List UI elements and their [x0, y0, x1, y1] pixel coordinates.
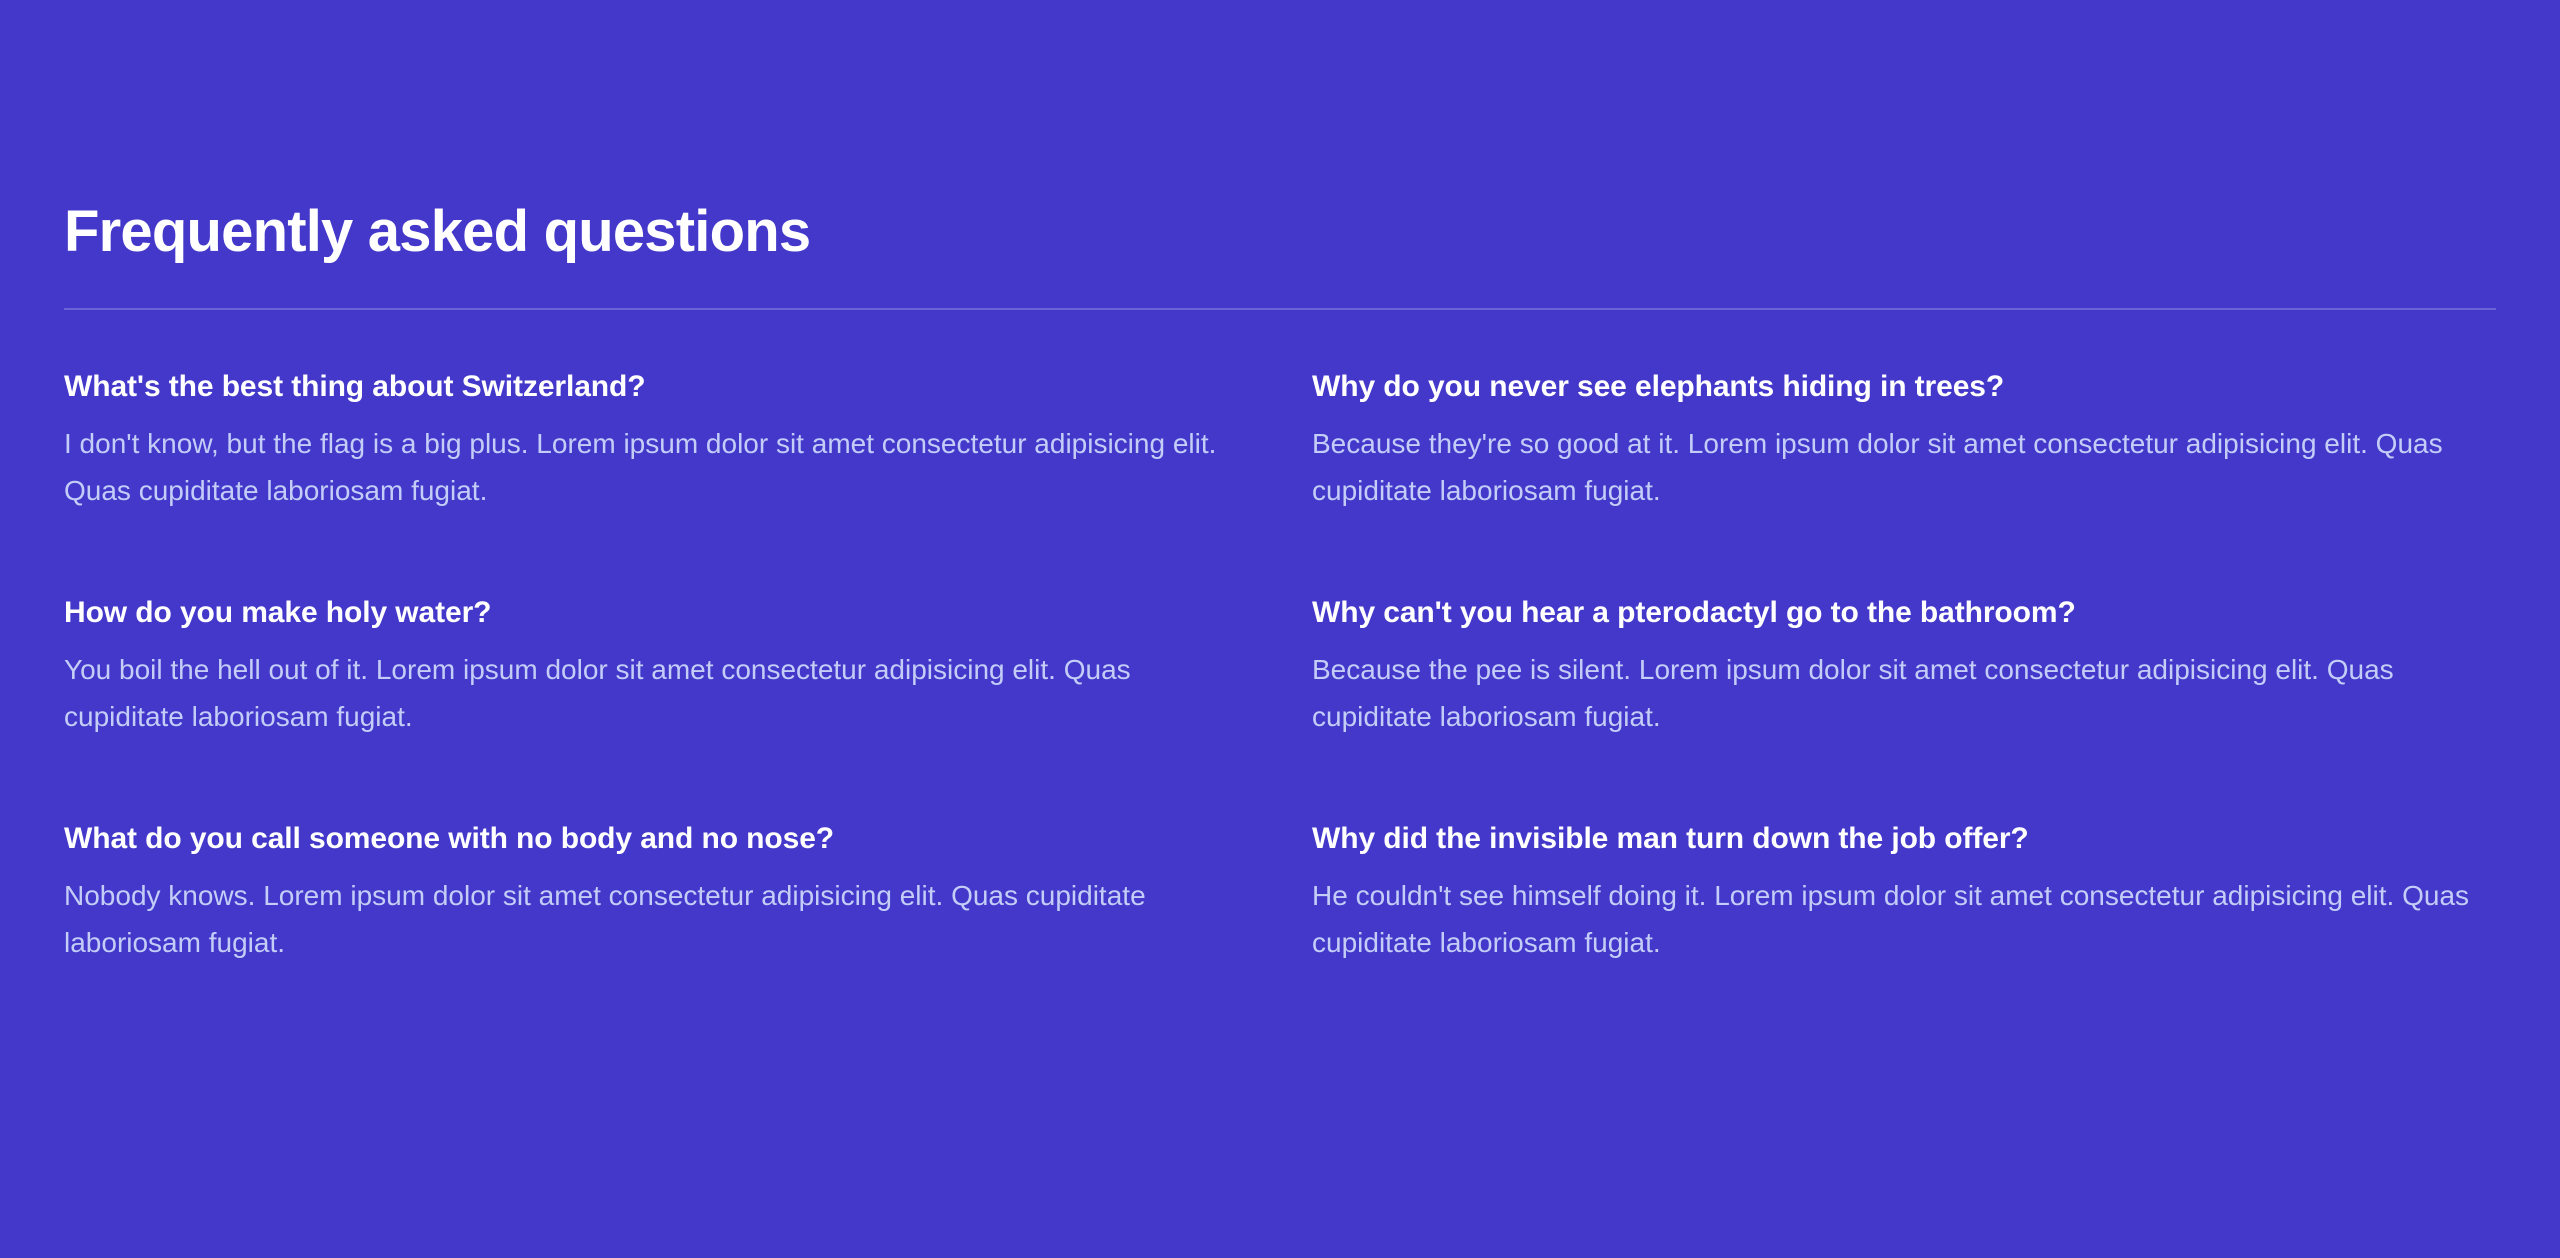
faq-question: What's the best thing about Switzerland?	[64, 368, 1248, 406]
faq-section: Frequently asked questions What's the be…	[0, 0, 2560, 1258]
faq-item: Why can't you hear a pterodactyl go to t…	[1312, 594, 2496, 740]
faq-question: Why did the invisible man turn down the …	[1312, 820, 2496, 858]
faq-grid: What's the best thing about Switzerland?…	[64, 368, 2496, 966]
faq-question: How do you make holy water?	[64, 594, 1248, 632]
faq-item: How do you make holy water? You boil the…	[64, 594, 1248, 740]
faq-item: Why do you never see elephants hiding in…	[1312, 368, 2496, 514]
faq-answer: You boil the hell out of it. Lorem ipsum…	[64, 646, 1248, 740]
faq-question: What do you call someone with no body an…	[64, 820, 1248, 858]
faq-question: Why do you never see elephants hiding in…	[1312, 368, 2496, 406]
faq-answer: I don't know, but the flag is a big plus…	[64, 420, 1248, 514]
heading-divider	[64, 308, 2496, 310]
faq-container: Frequently asked questions What's the be…	[64, 200, 2496, 966]
faq-answer: Nobody knows. Lorem ipsum dolor sit amet…	[64, 872, 1248, 966]
faq-question: Why can't you hear a pterodactyl go to t…	[1312, 594, 2496, 632]
faq-item: What's the best thing about Switzerland?…	[64, 368, 1248, 514]
faq-item: Why did the invisible man turn down the …	[1312, 820, 2496, 966]
faq-item: What do you call someone with no body an…	[64, 820, 1248, 966]
faq-answer: He couldn't see himself doing it. Lorem …	[1312, 872, 2496, 966]
faq-answer: Because they're so good at it. Lorem ips…	[1312, 420, 2496, 514]
faq-answer: Because the pee is silent. Lorem ipsum d…	[1312, 646, 2496, 740]
page-title: Frequently asked questions	[64, 200, 2496, 264]
